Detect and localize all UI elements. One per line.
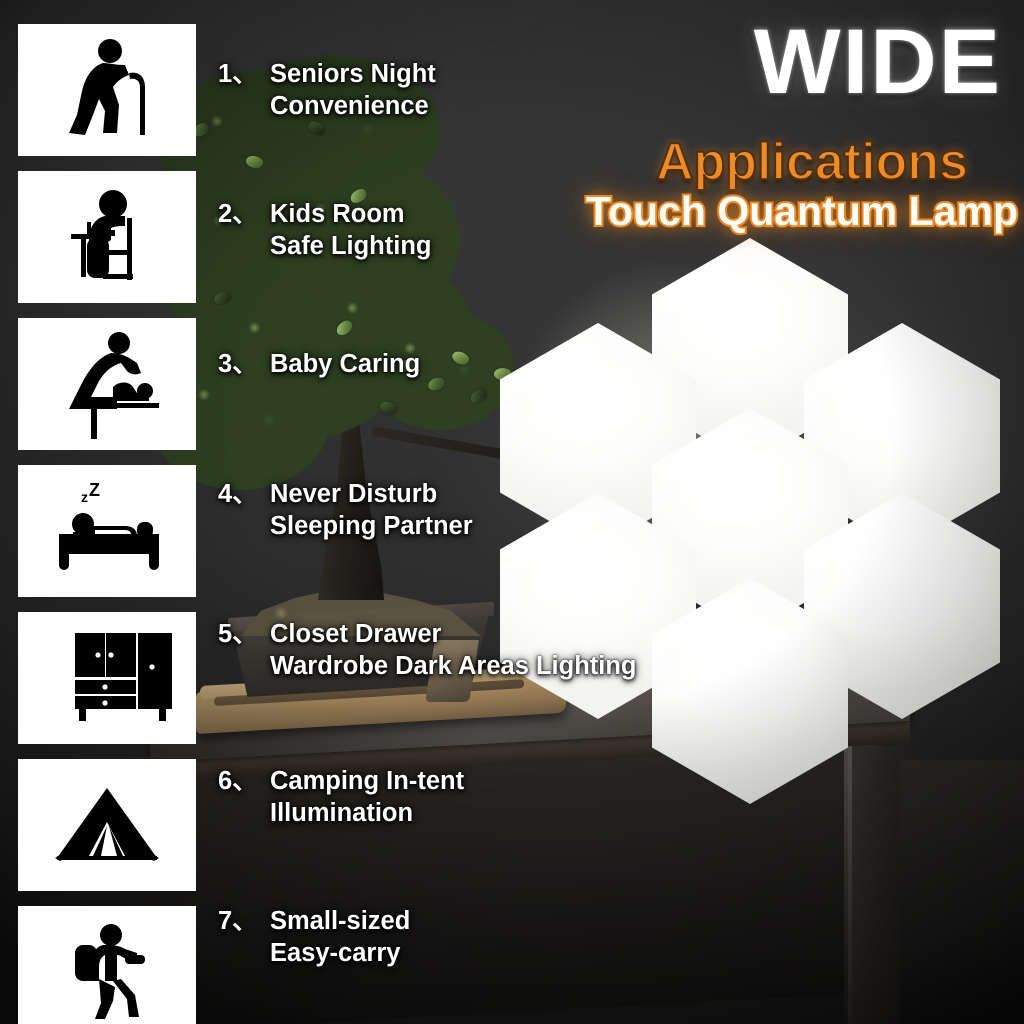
list-item-line2: Safe Lighting <box>270 230 432 262</box>
list-item-line1: Baby Caring <box>270 350 420 378</box>
list-item-line2: Sleeping Partner <box>270 510 473 542</box>
list-item-number: 5、 <box>218 618 270 650</box>
product-feature-poster: WIDE Applications Touch Quantum Lamp <box>0 0 1024 1024</box>
list-item-number: 6、 <box>218 765 270 797</box>
list-item: 1、Seniors NightConvenience <box>218 58 436 122</box>
list-item-number: 3、 <box>218 348 270 380</box>
page-title: WIDE <box>754 16 1002 108</box>
list-item: 6、Camping In-tentIllumination <box>218 765 464 829</box>
list-item-line2: Wardrobe Dark Areas Lighting <box>270 650 637 682</box>
list-item-number: 1、 <box>218 58 270 90</box>
list-item-number: 4、 <box>218 478 270 510</box>
page-subtitle: Applications <box>656 136 968 188</box>
list-item: 5、Closet DrawerWardrobe Dark Areas Light… <box>218 618 637 682</box>
list-item-line1: Seniors Night <box>270 60 436 88</box>
list-item-line2: Convenience <box>270 90 436 122</box>
list-item-line2: Illumination <box>270 797 464 829</box>
list-item-number: 7、 <box>218 905 270 937</box>
list-item: 7、Small-sizedEasy-carry <box>218 905 410 969</box>
list-item-line1: Never Disturb <box>270 480 437 508</box>
list-item-line1: Camping In-tent <box>270 767 464 795</box>
feature-list: 1、Seniors NightConvenience 2、Kids RoomSa… <box>0 0 700 1024</box>
list-item: 2、Kids RoomSafe Lighting <box>218 198 432 262</box>
list-item-line1: Kids Room <box>270 200 405 228</box>
list-item: 4、Never DisturbSleeping Partner <box>218 478 473 542</box>
list-item: 3、Baby Caring <box>218 348 420 380</box>
list-item-line2: Easy-carry <box>270 937 410 969</box>
list-item-line1: Small-sized <box>270 907 410 935</box>
list-item-line1: Closet Drawer <box>270 620 441 648</box>
list-item-number: 2、 <box>218 198 270 230</box>
